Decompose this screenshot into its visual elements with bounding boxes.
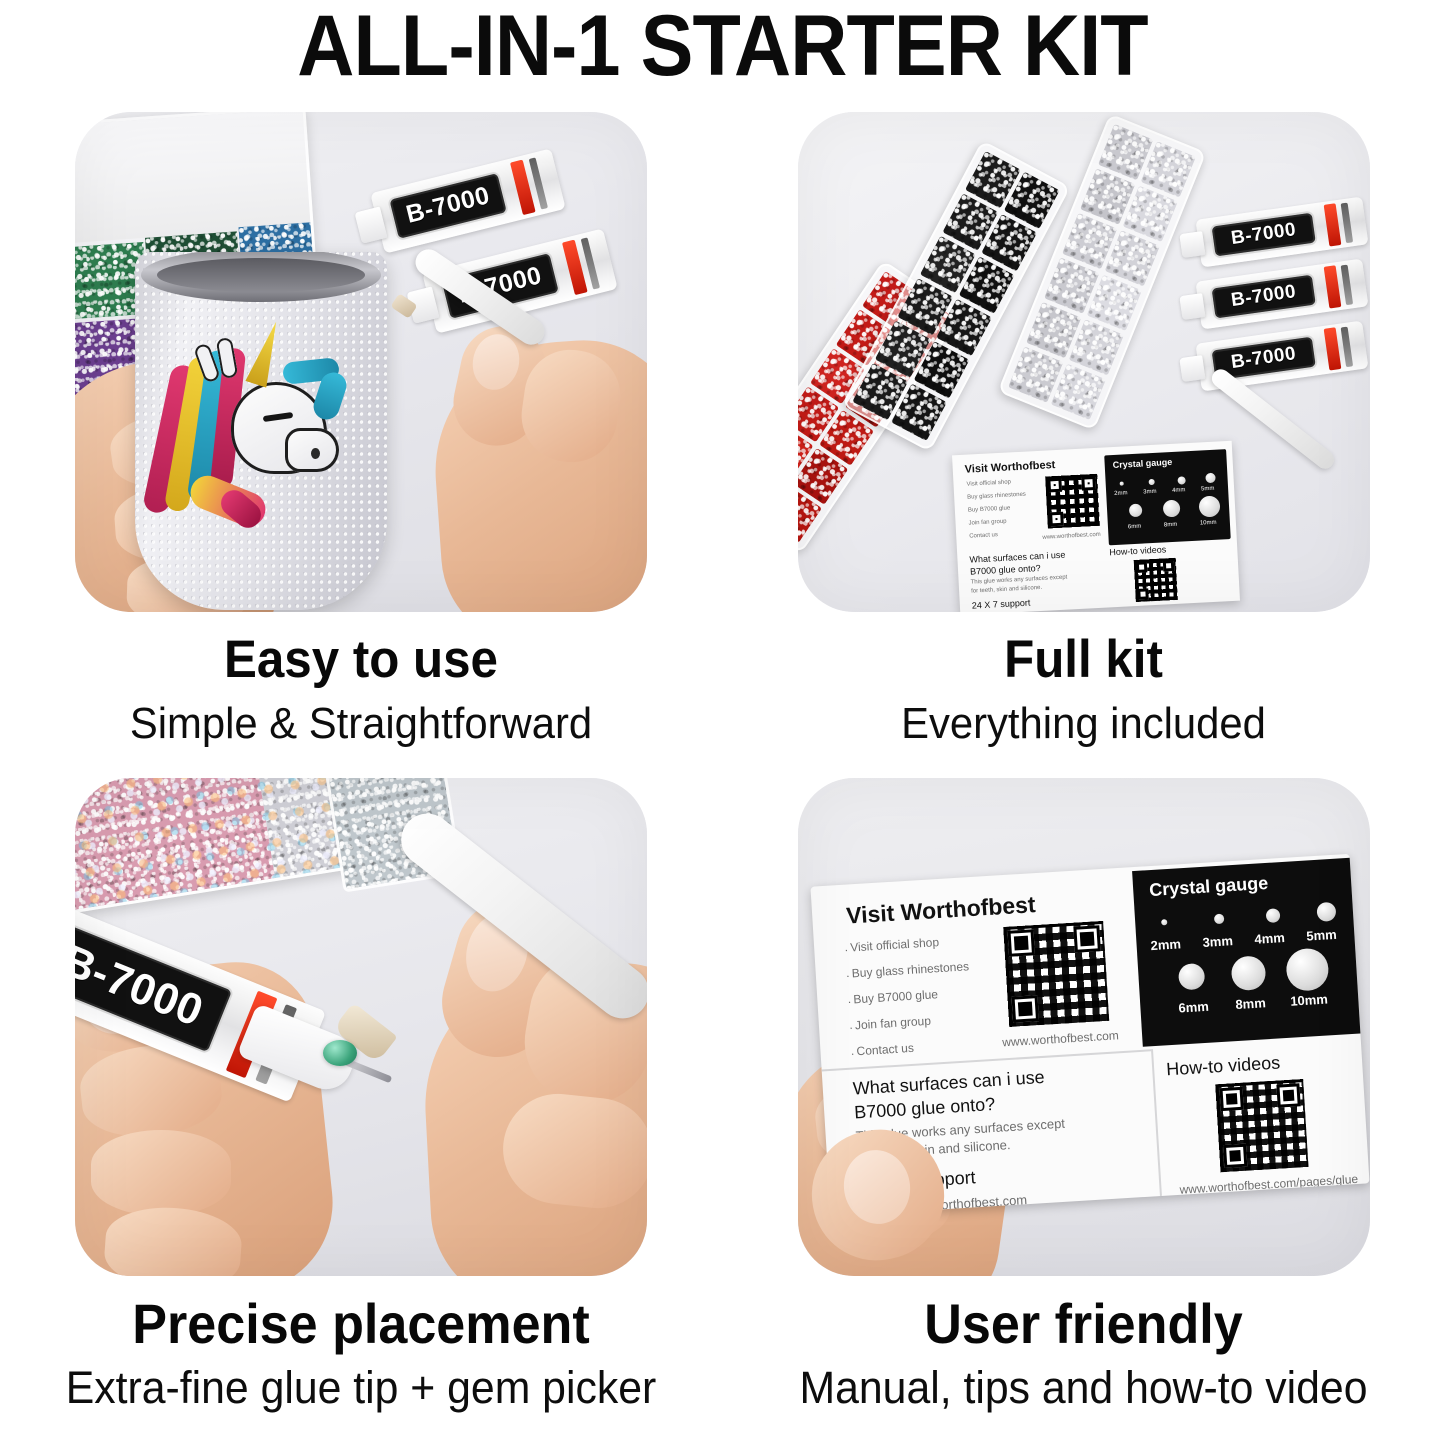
feature-subtext: Extra-fine glue tip + gem picker bbox=[18, 1360, 704, 1416]
page-title: ALL-IN-1 STARTER KIT bbox=[58, 0, 1387, 96]
feature-headline: User friendly bbox=[747, 1294, 1419, 1354]
feature-headline: Full kit bbox=[747, 630, 1419, 690]
feature-subtext: Manual, tips and how-to video bbox=[740, 1360, 1427, 1416]
infographic-page: ALL-IN-1 STARTER KIT bbox=[0, 0, 1445, 1438]
feature-headline: Easy to use bbox=[25, 630, 696, 690]
feature-cell-user-friendly: Visit Worthofbest Visit official shop Bu… bbox=[722, 770, 1445, 1438]
feature-cell-easy-to-use: B-7000 B-7000 bbox=[0, 100, 722, 770]
photo-precise-placement: B-7000 bbox=[75, 778, 647, 1276]
photo-user-friendly: Visit Worthofbest Visit official shop Bu… bbox=[798, 778, 1370, 1276]
feature-cell-precise-placement: B-7000 bbox=[0, 770, 722, 1438]
feature-subtext: Simple & Straightforward bbox=[18, 696, 704, 752]
photo-full-kit: B-7000 B-7000 B-7000 Vis bbox=[798, 112, 1370, 612]
feature-subtext: Everything included bbox=[740, 696, 1427, 752]
photo-easy-to-use: B-7000 B-7000 bbox=[75, 112, 647, 612]
feature-grid: B-7000 B-7000 bbox=[0, 100, 1445, 1438]
feature-cell-full-kit: B-7000 B-7000 B-7000 Vis bbox=[722, 100, 1445, 770]
feature-headline: Precise placement bbox=[25, 1294, 696, 1354]
